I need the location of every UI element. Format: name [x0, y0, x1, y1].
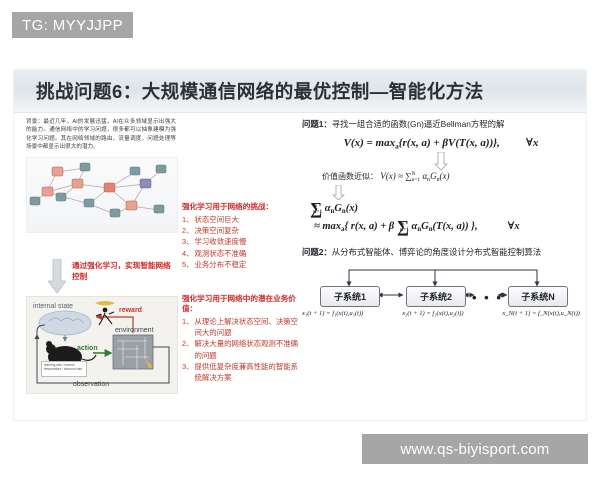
item-number: 4、	[182, 248, 194, 259]
problem1-text: 寻找一组合适的函数(Gn)逼近Bellman方程的解	[332, 119, 505, 129]
equation-line-1: ∑Nn=1 αnGn(x)	[310, 201, 580, 219]
item-number: 2、	[182, 338, 194, 360]
item-text: 提供低复杂度兼高性能的智能系统解决方案	[195, 361, 300, 383]
downward-arrow-2	[332, 185, 580, 200]
bottom-watermark-badge: www.qs-biyisport.com	[362, 434, 588, 464]
item-text: 从理论上解决状态空间、决策空间大的问题	[195, 316, 300, 338]
approximated-bellman-equation: ∑Nn=1 αnGn(x) ≈ maxa{ r(x, a) + β ∑Nn=1 …	[310, 201, 580, 237]
title-divider	[14, 112, 586, 113]
rl-environment-label: environment	[115, 327, 154, 334]
problem2-label: 问题2：	[302, 247, 332, 257]
subsystem-equation-1: x₁(t + 1) = f₁(x(t),u₁(t))	[302, 310, 363, 317]
arrow-down-icon	[434, 152, 448, 170]
problem1-label: 问题1：	[302, 119, 332, 129]
bellman-equation: V(x) = maxa{r(x, a) + βV(T(x, a))},∀x	[302, 136, 580, 150]
item-text: 决策空间复杂	[195, 225, 300, 236]
top-watermark-text: TG: MYYJJPP	[22, 17, 123, 34]
network-topology-figure	[26, 157, 178, 233]
presentation-slide: 挑战问题6：大规模通信网络的最优控制—智能化方法 背景：最近几年，AI的发展迅猛…	[14, 70, 586, 420]
downward-arrow-1	[302, 152, 580, 170]
network-graph-svg	[27, 158, 177, 232]
reinforcement-learning-diagram: internal state reward environment action…	[26, 296, 178, 394]
challenges-block: 强化学习用于网络的挑战： 1、状态空间巨大 2、决策空间复杂 3、学习收敛速度慢…	[182, 202, 300, 270]
subsystem-equations: x₁(t + 1) = f₁(x(t),u₁(t)) x₂(t + 1) = f…	[302, 310, 580, 317]
list-item: 5、业务分布不稳定	[182, 259, 300, 270]
rl-observation-label: observation	[73, 381, 109, 388]
item-number: 2、	[182, 225, 194, 236]
item-text: 解决大量的网络状态观测不准确的问题	[195, 338, 300, 360]
item-number: 3、	[182, 236, 194, 247]
rl-action-label: action	[77, 345, 98, 352]
item-text: 观测状态不准确	[195, 248, 300, 259]
item-number: 3、	[182, 361, 194, 383]
item-number: 5、	[182, 259, 194, 270]
list-item: 1、状态空间巨大	[182, 214, 300, 225]
challenges-heading: 强化学习用于网络的挑战：	[182, 202, 300, 212]
ellipsis-indicator: • • •	[472, 290, 503, 305]
left-column: 背景：最近几年，AI的发展迅猛，AI在众多领域显示出强大的能力。通信网络中的学习…	[26, 118, 180, 233]
down-arrow-icon	[48, 259, 66, 293]
equation-line-2: ≈ maxa{ r(x, a) + β ∑Nn=1 αnGn(T(x, a)) …	[314, 219, 580, 237]
approx-equation: V(x) ≈ ∑Nn=1 αnGn(x)	[380, 171, 449, 181]
value-approximation-line: 价值函数近似： V(x) ≈ ∑Nn=1 αnGn(x)	[322, 171, 580, 183]
list-item: 2、解决大量的网络状态观测不准确的问题	[182, 338, 300, 360]
subsystem-box-2: 子系统2	[406, 286, 466, 307]
subsystem-box-1: 子系统1	[320, 286, 380, 307]
top-watermark-badge: TG: MYYJJPP	[12, 12, 133, 38]
list-item: 1、从理论上解决状态空间、决策空间大的问题	[182, 316, 300, 338]
middle-column: 强化学习用于网络的挑战： 1、状态空间巨大 2、决策空间复杂 3、学习收敛速度慢…	[182, 118, 300, 383]
item-number: 1、	[182, 214, 194, 225]
list-item: 3、学习收敛速度慢	[182, 236, 300, 247]
subsystem-equation-n: x_N(t + 1) = f_N(x(t),u_N(t))	[502, 310, 580, 317]
item-text: 状态空间巨大	[195, 214, 300, 225]
list-item: 3、提供低复杂度兼高性能的智能系统解决方案	[182, 361, 300, 383]
business-value-block: 强化学习用于网络中的潜在业务价值： 1、从理论上解决状态空间、决策空间大的问题 …	[182, 294, 300, 383]
arrow-down-icon	[332, 185, 345, 200]
background-paragraph: 背景：最近几年，AI的发展迅猛，AI在众多领域显示出强大的能力。通信网络中的学习…	[26, 118, 176, 152]
problem2-text: 从分布式智能体、博弈论的角度设计分布式智能控制算法	[332, 247, 541, 257]
rl-caption: 通过强化学习，实现智能网络控制	[72, 260, 178, 282]
challenges-list: 1、状态空间巨大 2、决策空间复杂 3、学习收敛速度慢 4、观测状态不准确 5、…	[182, 214, 300, 270]
page-title: 挑战问题6：大规模通信网络的最优控制—智能化方法	[36, 78, 484, 104]
list-item: 4、观测状态不准确	[182, 248, 300, 259]
item-text: 业务分布不稳定	[195, 259, 300, 270]
bottom-watermark-text: www.qs-biyisport.com	[400, 441, 549, 458]
item-text: 学习收敛速度慢	[195, 236, 300, 247]
slide-title-band: 挑战问题6：大规模通信网络的最优控制—智能化方法	[14, 70, 586, 112]
business-value-list: 1、从理论上解决状态空间、决策空间大的问题 2、解决大量的网络状态观测不准确的问…	[182, 316, 300, 383]
business-value-heading: 强化学习用于网络中的潜在业务价值：	[182, 294, 300, 314]
rl-reward-label: reward	[119, 307, 142, 314]
subsystem-box-n: 子系统N	[508, 286, 568, 307]
problem2-heading: 问题2：从分布式智能体、博弈论的角度设计分布式智能控制算法	[302, 246, 580, 258]
list-item: 2、决策空间复杂	[182, 225, 300, 236]
item-number: 1、	[182, 316, 194, 338]
problem1-heading: 问题1：寻找一组合适的函数(Gn)逼近Bellman方程的解	[302, 118, 580, 130]
rl-agent-parameters-note: learning rate / inverse temperature / di…	[41, 361, 87, 377]
approx-label: 价值函数近似：	[322, 172, 378, 181]
rl-internal-state-label: internal state	[33, 303, 73, 310]
right-column: 问题1：寻找一组合适的函数(Gn)逼近Bellman方程的解 V(x) = ma…	[302, 118, 580, 328]
rl-diagram-svg	[27, 297, 177, 393]
subsystem-equation-2: x₂(t + 1) = f₂(x(t),u₂(t))	[402, 310, 463, 317]
subsystem-diagram: 子系统1 子系统2 • • • 子系统N x₁(t + 1) = f₁(x(t)…	[302, 264, 580, 328]
